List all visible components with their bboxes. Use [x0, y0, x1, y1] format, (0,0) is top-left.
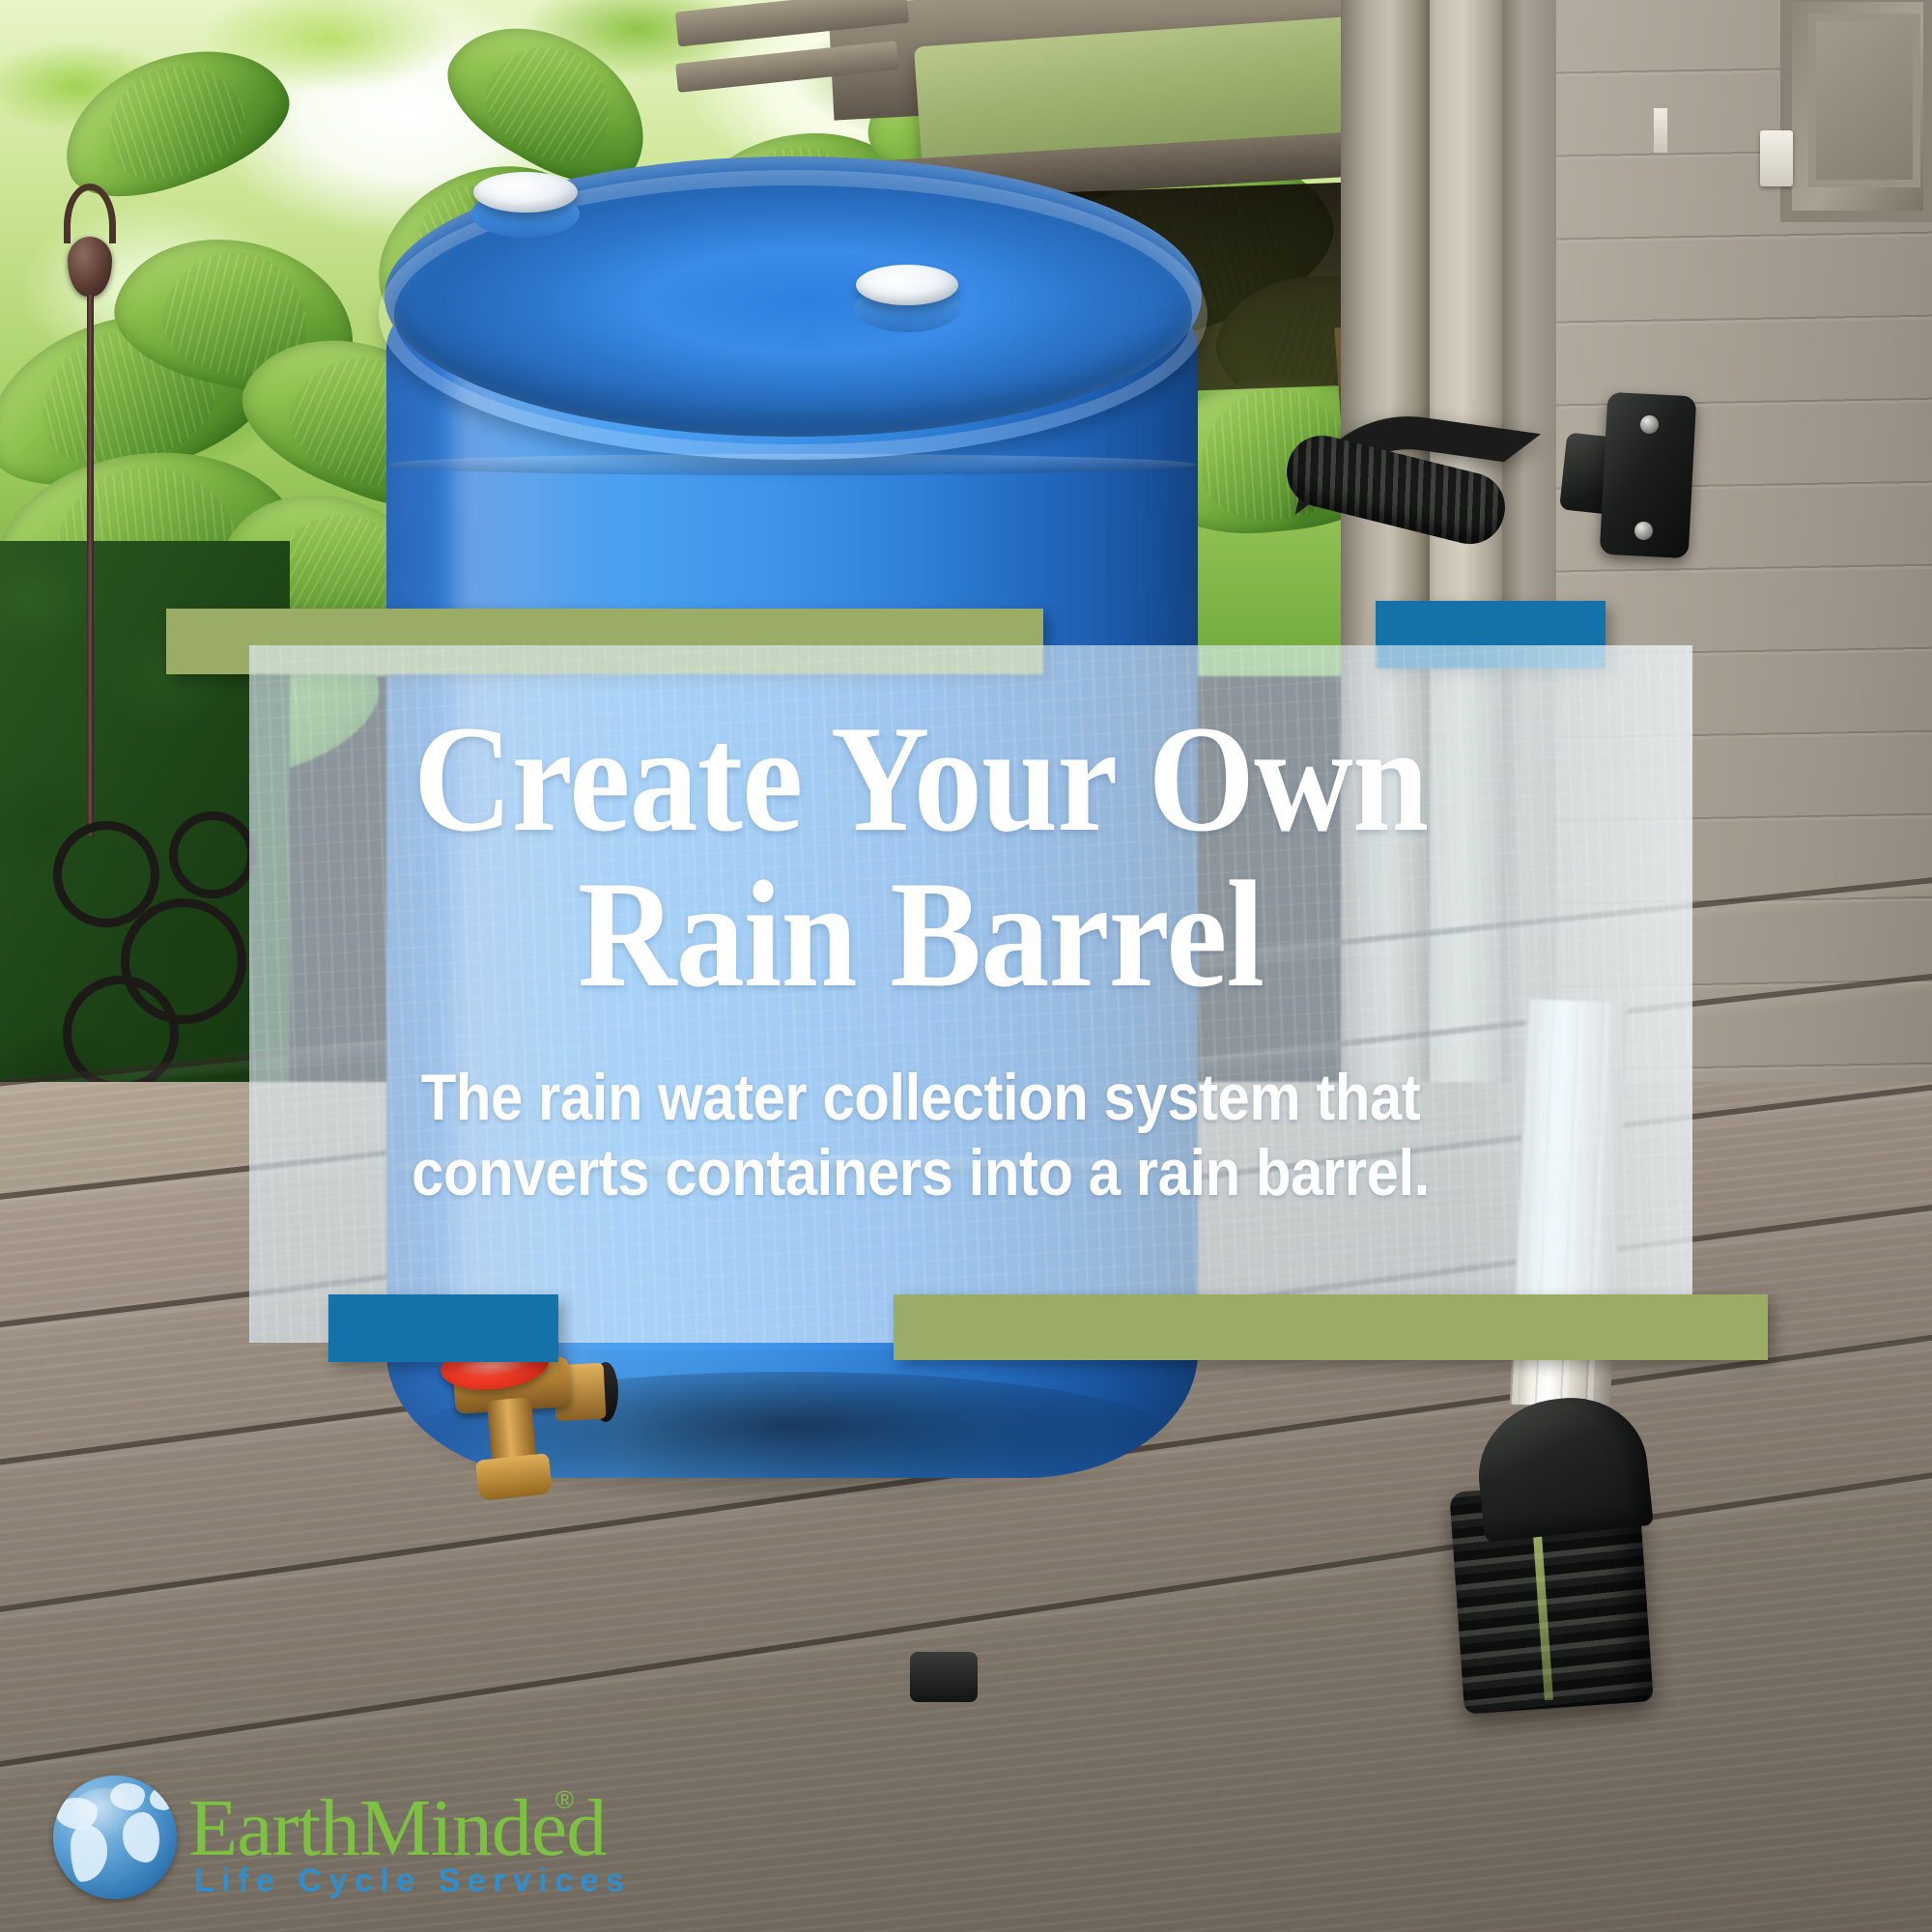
poster-canvas: Create Your Own Rain Barrel The rain wat… [0, 0, 1932, 1932]
page-title: Create Your Own Rain Barrel [317, 701, 1525, 1012]
garden-stake-rod [87, 295, 94, 836]
subtitle-line-2: converts containers into a rain barrel. [329, 1136, 1511, 1211]
flange-screw [1634, 522, 1653, 540]
barrel-drain-plug [910, 1652, 978, 1702]
door-panel [1808, 14, 1920, 187]
flange-screw [1640, 415, 1659, 434]
title-line-2: Rain Barrel [317, 857, 1525, 1012]
globe-icon [53, 1776, 177, 1899]
title-line-1: Create Your Own [317, 701, 1525, 857]
globe-highlight [71, 1788, 140, 1840]
barrel-cap [856, 265, 958, 305]
blue-accent-bar-bottom-left [328, 1294, 558, 1362]
logo-registered-mark: ® [555, 1785, 574, 1815]
barrel-cap [473, 172, 578, 213]
wall-clip [1760, 130, 1793, 186]
logo-tagline: Life Cycle Services [194, 1862, 631, 1900]
green-accent-bar-bottom-right [894, 1294, 1768, 1360]
wall-clip [1654, 108, 1667, 153]
page-subtitle: The rain water collection system that co… [329, 1061, 1511, 1210]
continent-shape [150, 1788, 175, 1810]
subtitle-line-1: The rain water collection system that [329, 1061, 1511, 1136]
logo-brand-text: EarthMinded [188, 1781, 606, 1875]
earthminded-logo[interactable]: EarthMinded ® Life Cycle Services [53, 1776, 594, 1911]
spigot-outlet [475, 1453, 553, 1501]
